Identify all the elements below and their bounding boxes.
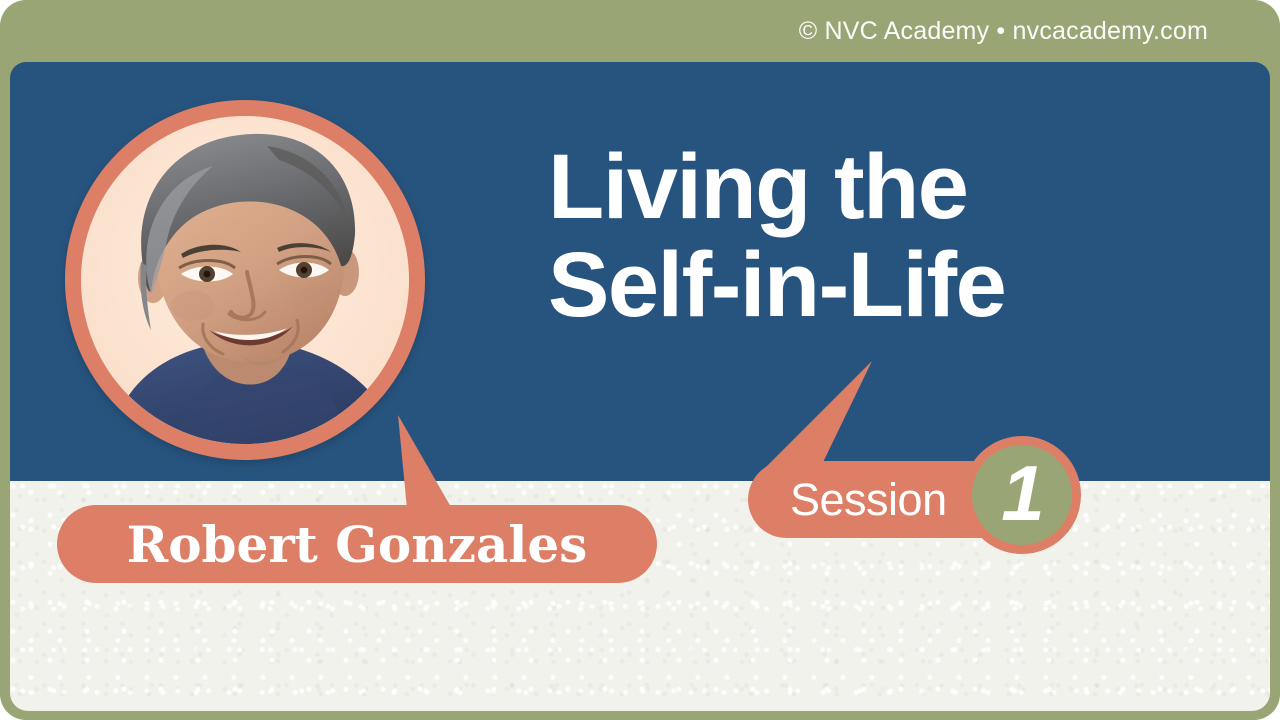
- copyright-bar: © NVC Academy • nvcacademy.com: [0, 0, 1280, 62]
- speaker-name-pill: Robert Gonzales: [57, 505, 657, 583]
- portrait-photo: [81, 116, 409, 444]
- avatar-inner: [81, 116, 409, 444]
- session-number-badge: 1: [963, 436, 1081, 554]
- session-number: 1: [1001, 454, 1042, 532]
- copyright-text: © NVC Academy • nvcacademy.com: [799, 17, 1208, 46]
- video-title-slide: © NVC Academy • nvcacademy.com Living th…: [0, 0, 1280, 720]
- session-label: Session: [790, 474, 947, 526]
- title-line-1: Living the: [548, 138, 1208, 236]
- title-line-2: Self-in-Life: [548, 236, 1208, 334]
- page-title: Living the Self-in-Life: [548, 138, 1208, 335]
- slide-frame: © NVC Academy • nvcacademy.com Living th…: [0, 0, 1280, 720]
- speaker-name: Robert Gonzales: [127, 515, 588, 574]
